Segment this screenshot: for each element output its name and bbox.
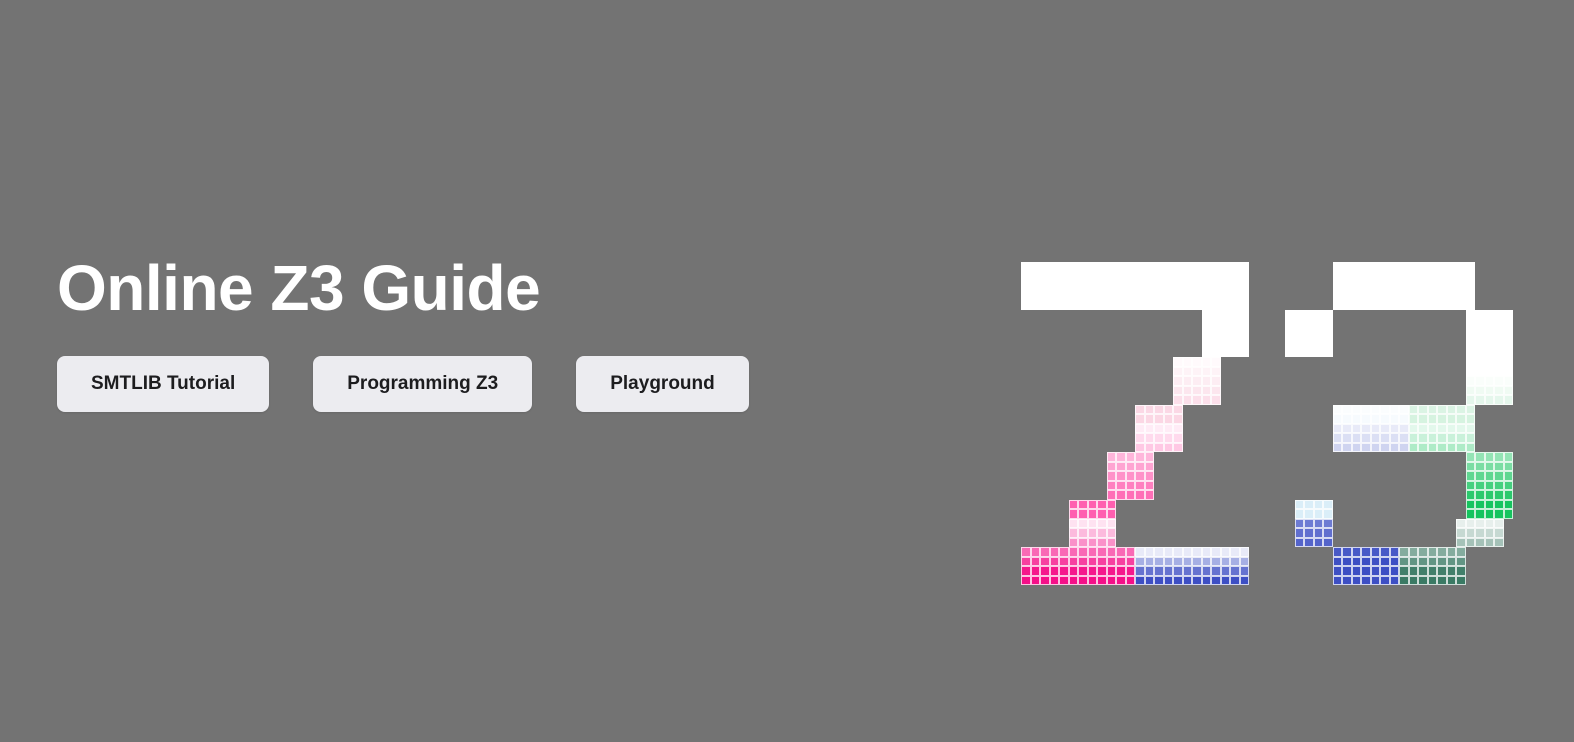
logo-pixel-empty [1192, 405, 1202, 415]
logo-pixel [1361, 262, 1371, 272]
logo-pixel-empty [1323, 481, 1333, 491]
logo-pixel-empty [1107, 386, 1117, 396]
logo-pixel [1295, 329, 1305, 339]
logo-pixel-empty [1314, 452, 1324, 462]
logo-pixel-empty [1135, 319, 1145, 329]
hero-section: Online Z3 Guide SMTLIB Tutorial Programm… [0, 0, 1574, 742]
logo-pixel-empty [1333, 462, 1343, 472]
logo-pixel-row [1021, 443, 1249, 453]
logo-pixel-empty [1295, 433, 1305, 443]
logo-pixel [1466, 300, 1476, 310]
logo-pixel-empty [1504, 433, 1514, 443]
logo-pixel-empty [1409, 462, 1419, 472]
logo-pixel [1485, 386, 1495, 396]
logo-pixel-empty [1059, 424, 1069, 434]
logo-pixel-empty [1352, 329, 1362, 339]
logo-pixel [1361, 291, 1371, 301]
logo-pixel-empty [1021, 395, 1031, 405]
logo-pixel-empty [1437, 357, 1447, 367]
logo-pixel [1314, 348, 1324, 358]
logo-pixel-empty [1494, 405, 1504, 415]
logo-pixel-empty [1116, 376, 1126, 386]
logo-pixel [1202, 557, 1212, 567]
logo-pixel [1323, 348, 1333, 358]
logo-pixel-empty [1295, 547, 1305, 557]
logo-pixel [1145, 424, 1155, 434]
logo-pixel-empty [1240, 433, 1250, 443]
logo-pixel [1504, 367, 1514, 377]
logo-pixel [1050, 300, 1060, 310]
logo-pixel [1145, 462, 1155, 472]
logo-pixel-empty [1494, 566, 1504, 576]
logo-pixel [1304, 500, 1314, 510]
logo-pixel-empty [1380, 462, 1390, 472]
logo-pixel [1485, 471, 1495, 481]
logo-pixel-empty [1361, 310, 1371, 320]
logo-pixel-empty [1040, 528, 1050, 538]
logo-pixel [1183, 566, 1193, 576]
logo-pixel-empty [1078, 338, 1088, 348]
logo-pixel-empty [1192, 519, 1202, 529]
logo-pixel-empty [1088, 329, 1098, 339]
logo-pixel-empty [1342, 329, 1352, 339]
logo-pixel-empty [1456, 490, 1466, 500]
logo-pixel [1221, 300, 1231, 310]
logo-pixel-empty [1097, 357, 1107, 367]
logo-pixel [1333, 557, 1343, 567]
logo-pixel-empty [1418, 528, 1428, 538]
logo-pixel-empty [1399, 376, 1409, 386]
programming-z3-button[interactable]: Programming Z3 [313, 356, 532, 412]
logo-pixel-empty [1409, 310, 1419, 320]
logo-pixel [1107, 272, 1117, 282]
logo-pixel-empty [1192, 481, 1202, 491]
logo-pixel-empty [1050, 500, 1060, 510]
logo-pixel-empty [1323, 566, 1333, 576]
logo-pixel [1371, 291, 1381, 301]
logo-pixel [1069, 557, 1079, 567]
logo-pixel-empty [1304, 462, 1314, 472]
logo-pixel [1285, 310, 1295, 320]
logo-pixel-empty [1428, 386, 1438, 396]
logo-pixel-empty [1418, 519, 1428, 529]
logo-pixel-empty [1494, 262, 1504, 272]
logo-pixel-empty [1466, 576, 1476, 586]
logo-pixel-empty [1202, 405, 1212, 415]
logo-pixel [1040, 557, 1050, 567]
logo-pixel-empty [1447, 395, 1457, 405]
logo-pixel-empty [1107, 405, 1117, 415]
logo-pixel [1333, 300, 1343, 310]
logo-pixel [1466, 538, 1476, 548]
logo-pixel-empty [1428, 538, 1438, 548]
logo-pixel [1494, 329, 1504, 339]
logo-pixel-empty [1447, 319, 1457, 329]
logo-pixel-empty [1183, 310, 1193, 320]
logo-pixel-row [1285, 319, 1513, 329]
logo-pixel [1221, 310, 1231, 320]
logo-pixel-empty [1314, 490, 1324, 500]
logo-pixel-empty [1333, 395, 1343, 405]
logo-pixel-empty [1304, 262, 1314, 272]
logo-pixel [1230, 338, 1240, 348]
playground-button[interactable]: Playground [576, 356, 749, 412]
logo-pixel [1409, 405, 1419, 415]
logo-pixel-row [1285, 528, 1513, 538]
logo-pixel [1447, 557, 1457, 567]
logo-pixel-empty [1342, 376, 1352, 386]
logo-pixel-empty [1352, 481, 1362, 491]
logo-pixel [1211, 576, 1221, 586]
logo-pixel [1107, 462, 1117, 472]
logo-pixel-empty [1050, 310, 1060, 320]
logo-pixel-empty [1323, 291, 1333, 301]
logo-pixel-empty [1154, 329, 1164, 339]
logo-pixel-empty [1059, 414, 1069, 424]
logo-pixel [1371, 557, 1381, 567]
logo-pixel-empty [1021, 386, 1031, 396]
logo-pixel-empty [1504, 300, 1514, 310]
logo-pixel-empty [1097, 481, 1107, 491]
logo-pixel-empty [1078, 462, 1088, 472]
logo-pixel [1485, 490, 1495, 500]
logo-pixel-empty [1126, 367, 1136, 377]
logo-pixel [1380, 405, 1390, 415]
logo-pixel [1428, 405, 1438, 415]
logo-pixel-empty [1504, 262, 1514, 272]
logo-pixel [1240, 272, 1250, 282]
logo-pixel [1333, 405, 1343, 415]
logo-pixel-empty [1021, 348, 1031, 358]
logo-pixel [1494, 395, 1504, 405]
logo-pixel [1107, 500, 1117, 510]
logo-pixel [1040, 281, 1050, 291]
logo-pixel [1097, 519, 1107, 529]
logo-pixel-empty [1409, 348, 1419, 358]
logo-pixel-empty [1069, 319, 1079, 329]
logo-pixel-row [1021, 566, 1249, 576]
logo-pixel-empty [1126, 310, 1136, 320]
logo-pixel-empty [1475, 576, 1485, 586]
logo-pixel [1466, 386, 1476, 396]
logo-pixel [1230, 300, 1240, 310]
logo-pixel-empty [1399, 519, 1409, 529]
logo-pixel-empty [1145, 509, 1155, 519]
logo-pixel [1504, 338, 1514, 348]
logo-pixel-empty [1409, 519, 1419, 529]
logo-pixel [1304, 310, 1314, 320]
logo-pixel-empty [1202, 424, 1212, 434]
logo-pixel [1447, 443, 1457, 453]
logo-pixel [1135, 281, 1145, 291]
logo-pixel-empty [1031, 424, 1041, 434]
logo-pixel [1240, 319, 1250, 329]
logo-pixel-empty [1088, 443, 1098, 453]
logo-pixel-empty [1240, 367, 1250, 377]
logo-pixel [1097, 547, 1107, 557]
logo-pixel [1107, 481, 1117, 491]
logo-pixel-empty [1409, 338, 1419, 348]
logo-pixel-row [1021, 376, 1249, 386]
logo-pixel [1371, 433, 1381, 443]
smtlib-tutorial-button[interactable]: SMTLIB Tutorial [57, 356, 269, 412]
logo-pixel-empty [1323, 557, 1333, 567]
logo-pixel [1135, 490, 1145, 500]
logo-pixel-empty [1031, 338, 1041, 348]
logo-pixel-empty [1380, 452, 1390, 462]
logo-pixel [1088, 500, 1098, 510]
logo-pixel-empty [1221, 405, 1231, 415]
logo-pixel [1164, 291, 1174, 301]
logo-pixel-empty [1285, 386, 1295, 396]
logo-pixel [1494, 528, 1504, 538]
logo-pixel [1494, 338, 1504, 348]
logo-pixel-empty [1285, 443, 1295, 453]
logo-pixel-row [1021, 528, 1249, 538]
logo-pixel-empty [1333, 538, 1343, 548]
logo-pixel-empty [1314, 424, 1324, 434]
logo-pixel-empty [1040, 452, 1050, 462]
logo-pixel [1154, 414, 1164, 424]
logo-pixel [1173, 376, 1183, 386]
logo-pixel-empty [1371, 490, 1381, 500]
logo-pixel-empty [1352, 490, 1362, 500]
logo-pixel [1390, 443, 1400, 453]
logo-pixel-empty [1202, 443, 1212, 453]
logo-pixel [1164, 414, 1174, 424]
logo-pixel-empty [1145, 519, 1155, 529]
logo-pixel-empty [1295, 576, 1305, 586]
logo-pixel [1342, 300, 1352, 310]
logo-pixel-empty [1380, 471, 1390, 481]
logo-pixel-empty [1192, 490, 1202, 500]
logo-pixel-empty [1230, 433, 1240, 443]
logo-pixel-empty [1371, 348, 1381, 358]
logo-digit-three [1285, 262, 1513, 585]
logo-pixel-empty [1361, 348, 1371, 358]
logo-pixel-empty [1418, 471, 1428, 481]
logo-pixel-empty [1304, 386, 1314, 396]
logo-pixel-empty [1097, 329, 1107, 339]
logo-pixel [1211, 395, 1221, 405]
logo-pixel [1230, 272, 1240, 282]
logo-pixel [1466, 262, 1476, 272]
logo-pixel-empty [1154, 471, 1164, 481]
logo-pixel [1173, 433, 1183, 443]
logo-pixel [1107, 538, 1117, 548]
logo-pixel-empty [1352, 386, 1362, 396]
logo-pixel [1447, 414, 1457, 424]
logo-pixel-empty [1333, 329, 1343, 339]
logo-pixel-empty [1323, 433, 1333, 443]
logo-pixel-empty [1409, 386, 1419, 396]
logo-pixel-empty [1323, 490, 1333, 500]
logo-pixel [1173, 291, 1183, 301]
logo-pixel-empty [1040, 319, 1050, 329]
logo-pixel-row [1021, 452, 1249, 462]
logo-pixel-row [1285, 367, 1513, 377]
logo-pixel [1437, 262, 1447, 272]
logo-pixel-empty [1059, 367, 1069, 377]
logo-pixel [1304, 538, 1314, 548]
logo-pixel-empty [1295, 357, 1305, 367]
logo-pixel [1202, 291, 1212, 301]
logo-pixel [1230, 547, 1240, 557]
logo-pixel-empty [1145, 376, 1155, 386]
logo-pixel [1116, 291, 1126, 301]
logo-pixel-empty [1447, 367, 1457, 377]
logo-pixel [1475, 490, 1485, 500]
logo-pixel-empty [1304, 547, 1314, 557]
logo-pixel-empty [1183, 500, 1193, 510]
logo-pixel-empty [1504, 405, 1514, 415]
logo-pixel-empty [1192, 509, 1202, 519]
logo-pixel [1466, 319, 1476, 329]
logo-pixel-empty [1390, 376, 1400, 386]
logo-pixel [1088, 557, 1098, 567]
logo-pixel-empty [1135, 310, 1145, 320]
logo-pixel [1211, 376, 1221, 386]
logo-pixel [1116, 557, 1126, 567]
logo-pixel-empty [1428, 348, 1438, 358]
logo-pixel-empty [1107, 433, 1117, 443]
logo-pixel-empty [1192, 338, 1202, 348]
logo-pixel [1418, 414, 1428, 424]
logo-pixel-empty [1240, 462, 1250, 472]
logo-pixel [1202, 547, 1212, 557]
logo-pixel-empty [1126, 414, 1136, 424]
logo-pixel [1390, 557, 1400, 567]
logo-pixel-empty [1437, 509, 1447, 519]
logo-pixel-empty [1031, 357, 1041, 367]
logo-pixel [1428, 414, 1438, 424]
logo-pixel-empty [1399, 329, 1409, 339]
logo-pixel-empty [1399, 367, 1409, 377]
logo-pixel-empty [1352, 348, 1362, 358]
logo-pixel-empty [1107, 395, 1117, 405]
logo-pixel-row [1285, 300, 1513, 310]
logo-pixel-empty [1097, 433, 1107, 443]
logo-pixel-empty [1390, 395, 1400, 405]
logo-pixel [1211, 348, 1221, 358]
logo-pixel-empty [1485, 272, 1495, 282]
logo-pixel-empty [1437, 338, 1447, 348]
logo-pixel [1069, 291, 1079, 301]
logo-pixel [1485, 338, 1495, 348]
logo-pixel-empty [1409, 538, 1419, 548]
logo-pixel [1380, 557, 1390, 567]
logo-pixel-empty [1031, 367, 1041, 377]
logo-pixel [1097, 291, 1107, 301]
logo-pixel-empty [1221, 481, 1231, 491]
logo-pixel-empty [1323, 272, 1333, 282]
logo-pixel [1202, 357, 1212, 367]
logo-pixel [1418, 291, 1428, 301]
logo-pixel [1285, 319, 1295, 329]
logo-pixel-empty [1088, 357, 1098, 367]
logo-pixel [1211, 367, 1221, 377]
logo-pixel-empty [1126, 538, 1136, 548]
logo-pixel [1230, 310, 1240, 320]
logo-pixel-empty [1390, 509, 1400, 519]
logo-pixel-empty [1399, 338, 1409, 348]
logo-pixel [1304, 348, 1314, 358]
logo-pixel-empty [1031, 452, 1041, 462]
logo-pixel [1050, 547, 1060, 557]
logo-pixel [1173, 443, 1183, 453]
logo-pixel [1145, 490, 1155, 500]
logo-pixel-empty [1069, 414, 1079, 424]
logo-pixel-empty [1040, 433, 1050, 443]
logo-pixel [1485, 376, 1495, 386]
logo-pixel [1418, 272, 1428, 282]
logo-pixel-empty [1069, 357, 1079, 367]
logo-pixel-empty [1447, 376, 1457, 386]
logo-pixel-empty [1371, 319, 1381, 329]
logo-pixel-empty [1240, 509, 1250, 519]
logo-pixel-empty [1390, 528, 1400, 538]
logo-pixel-row [1021, 462, 1249, 472]
logo-pixel [1399, 443, 1409, 453]
logo-pixel [1040, 262, 1050, 272]
logo-pixel-empty [1456, 310, 1466, 320]
logo-pixel [1078, 557, 1088, 567]
logo-pixel-empty [1342, 528, 1352, 538]
logo-pixel [1475, 481, 1485, 491]
logo-pixel-empty [1437, 348, 1447, 358]
logo-pixel-empty [1371, 376, 1381, 386]
logo-pixel-empty [1050, 462, 1060, 472]
logo-pixel [1211, 310, 1221, 320]
logo-pixel [1221, 566, 1231, 576]
logo-pixel-empty [1097, 348, 1107, 358]
logo-pixel-empty [1380, 500, 1390, 510]
logo-pixel-empty [1221, 357, 1231, 367]
logo-pixel [1230, 566, 1240, 576]
logo-pixel [1494, 509, 1504, 519]
logo-pixel [1069, 519, 1079, 529]
logo-pixel [1304, 329, 1314, 339]
logo-pixel-empty [1173, 509, 1183, 519]
logo-pixel-empty [1494, 272, 1504, 282]
logo-pixel-empty [1183, 329, 1193, 339]
logo-pixel [1145, 262, 1155, 272]
logo-pixel-empty [1069, 443, 1079, 453]
logo-pixel [1135, 452, 1145, 462]
logo-pixel-empty [1126, 376, 1136, 386]
logo-pixel [1192, 272, 1202, 282]
logo-pixel-empty [1059, 528, 1069, 538]
logo-pixel [1485, 528, 1495, 538]
logo-pixel-empty [1390, 367, 1400, 377]
logo-pixel-empty [1211, 481, 1221, 491]
logo-pixel-empty [1304, 367, 1314, 377]
logo-pixel [1371, 414, 1381, 424]
logo-pixel [1475, 376, 1485, 386]
logo-pixel-empty [1031, 538, 1041, 548]
logo-pixel-empty [1173, 471, 1183, 481]
logo-pixel-empty [1107, 357, 1117, 367]
logo-pixel-empty [1409, 367, 1419, 377]
logo-pixel [1135, 471, 1145, 481]
logo-pixel [1145, 433, 1155, 443]
logo-pixel-empty [1164, 338, 1174, 348]
logo-pixel-empty [1221, 528, 1231, 538]
logo-pixel-empty [1230, 367, 1240, 377]
logo-pixel-empty [1021, 528, 1031, 538]
logo-pixel [1069, 566, 1079, 576]
logo-pixel [1409, 566, 1419, 576]
